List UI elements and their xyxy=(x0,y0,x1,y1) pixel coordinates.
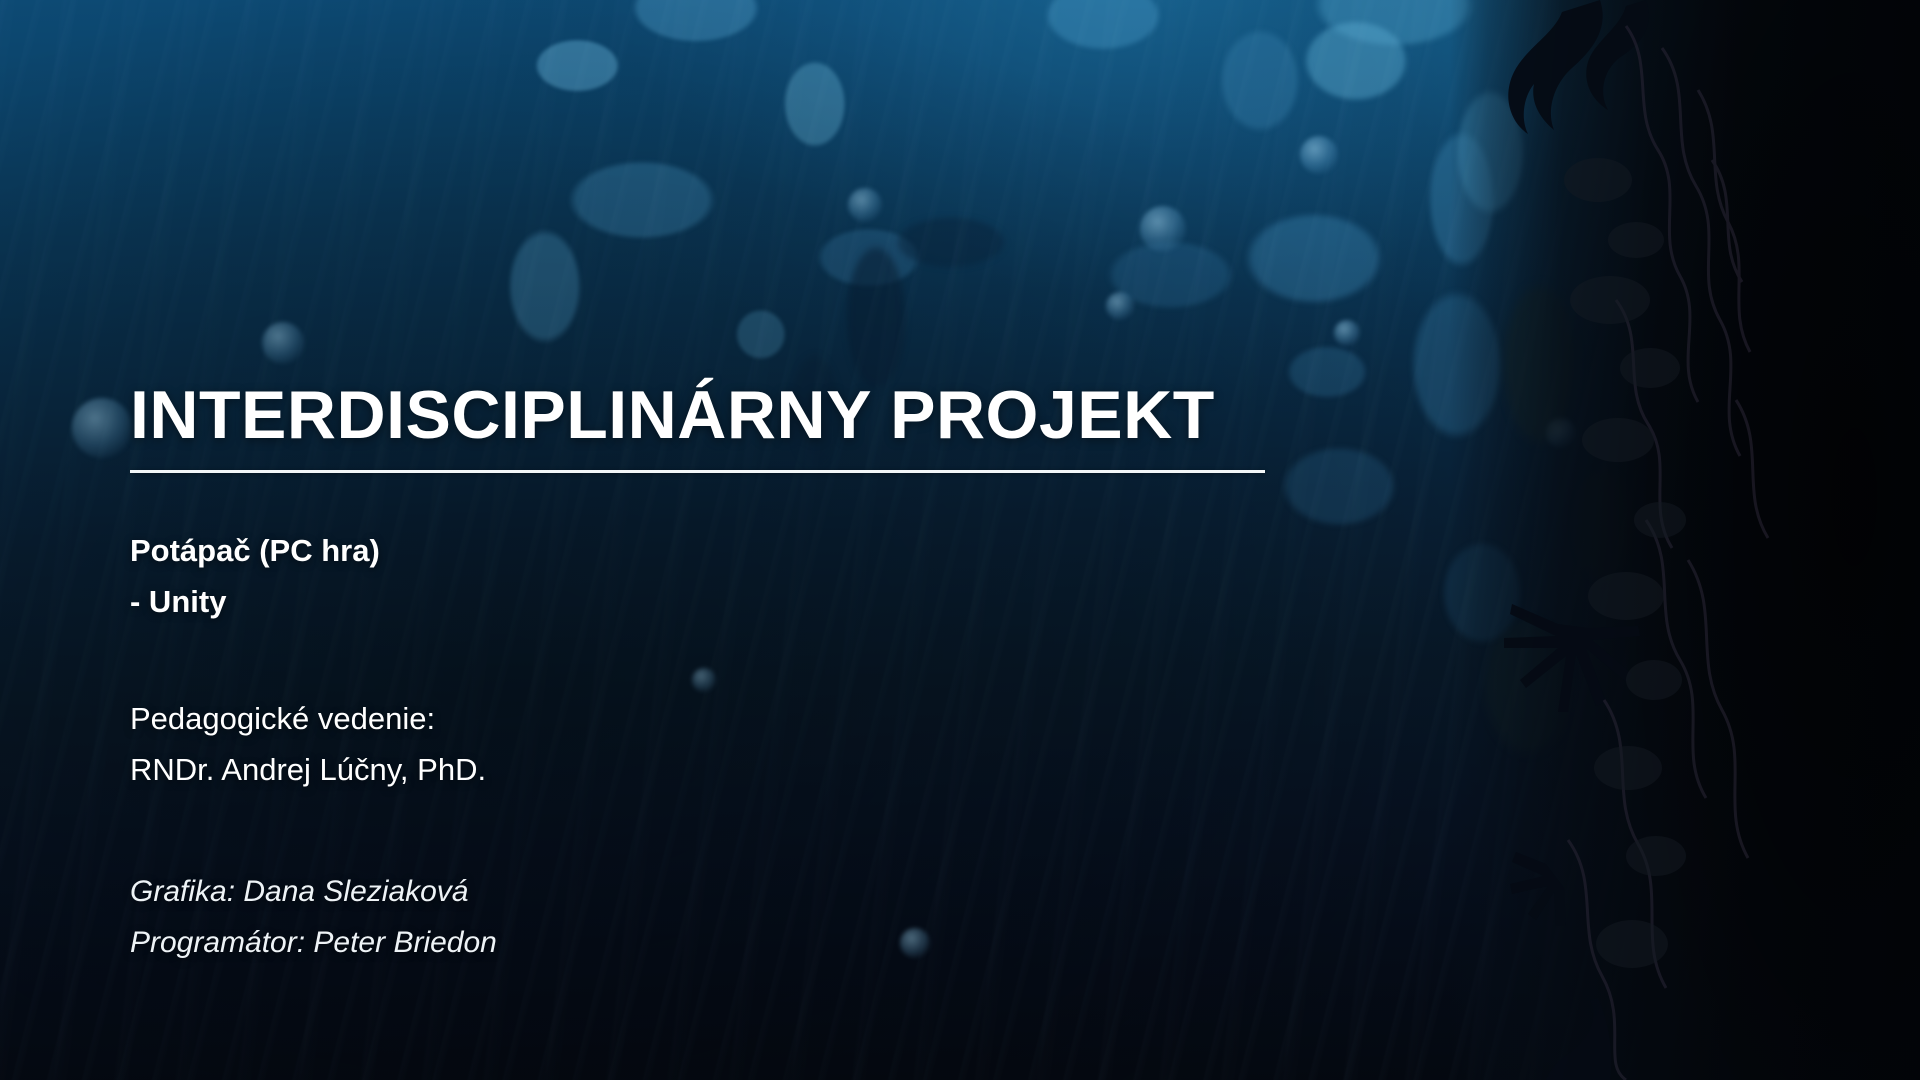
mentor-label: Pedagogické vedenie: xyxy=(130,693,486,744)
project-subtitle: Potápač (PC hra) - Unity xyxy=(130,525,380,627)
credit-programmer: Programátor: Peter Briedon xyxy=(130,917,497,968)
mentor-block: Pedagogické vedenie: RNDr. Andrej Lúčny,… xyxy=(130,693,486,795)
slide-content: INTERDISCIPLINÁRNY PROJEKT Potápač (PC h… xyxy=(130,0,1330,1080)
mentor-name: RNDr. Andrej Lúčny, PhD. xyxy=(130,744,486,795)
page-title: INTERDISCIPLINÁRNY PROJEKT xyxy=(130,380,1215,451)
title-divider-rule xyxy=(130,470,1265,473)
title-slide: INTERDISCIPLINÁRNY PROJEKT Potápač (PC h… xyxy=(0,0,1920,1080)
project-name: Potápač (PC hra) xyxy=(130,525,380,576)
credit-graphics: Grafika: Dana Sleziaková xyxy=(130,866,497,917)
project-platform: - Unity xyxy=(130,576,380,627)
credits-block: Grafika: Dana Sleziaková Programátor: Pe… xyxy=(130,866,497,968)
